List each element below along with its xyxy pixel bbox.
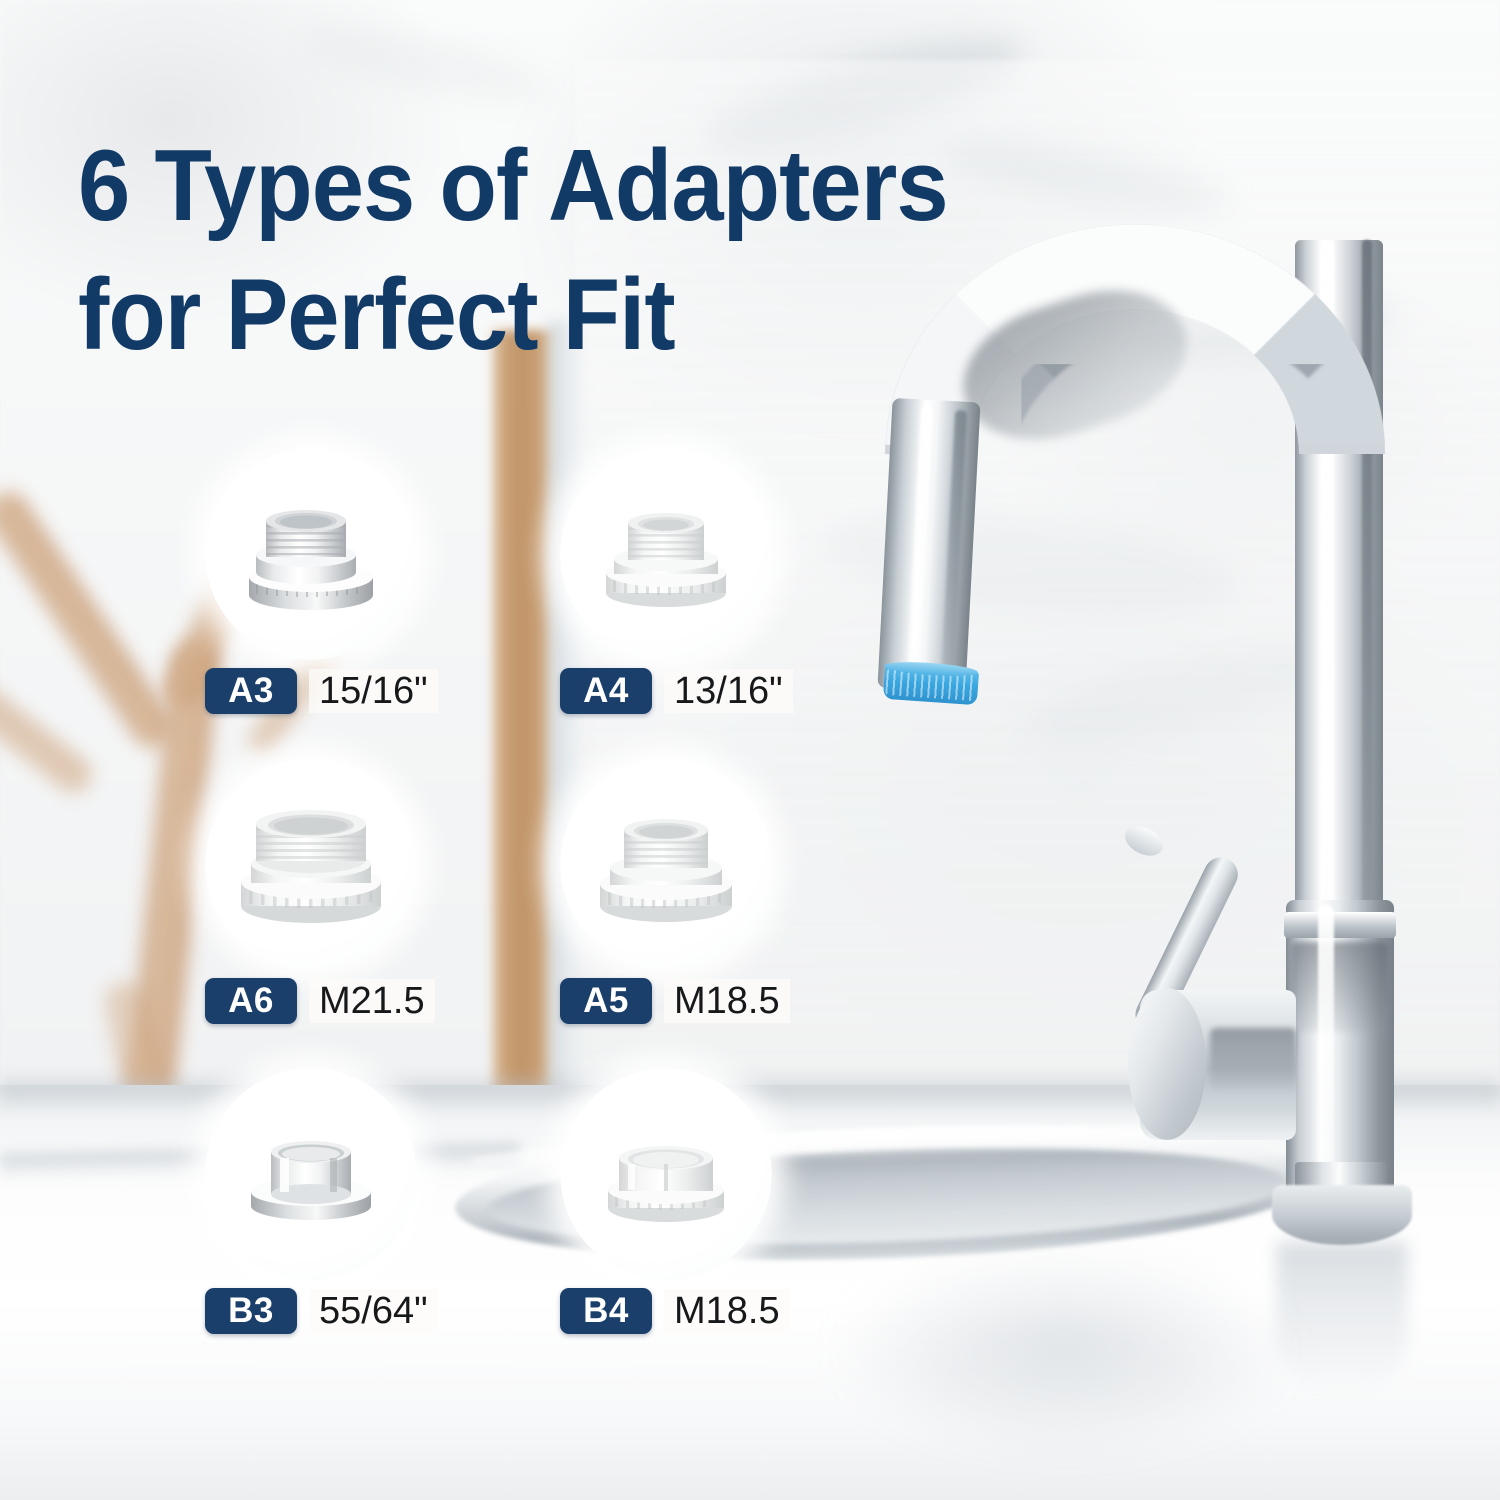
adapter-disc	[560, 1068, 772, 1280]
adapter-image-a4	[581, 489, 751, 619]
adapter-size-label: 13/16"	[664, 669, 793, 713]
adapter-code-badge: A5	[560, 978, 652, 1024]
adapter-label-row: B3 55/64"	[205, 1286, 565, 1336]
adapter-card-b3[interactable]: B3 55/64"	[205, 1068, 565, 1336]
adapter-code-badge: A6	[205, 978, 297, 1024]
adapter-code-badge: A4	[560, 668, 652, 714]
adapter-code-badge: B3	[205, 1288, 297, 1334]
adapter-code-badge: A3	[205, 668, 297, 714]
adapter-size-label: M18.5	[664, 1289, 790, 1333]
adapter-image-a5	[580, 796, 752, 932]
adapter-card-a3[interactable]: A3 15/16"	[205, 448, 565, 716]
adapter-size-label: 15/16"	[309, 669, 438, 713]
adapter-image-a3	[226, 489, 396, 619]
adapter-image-b4	[581, 1114, 751, 1234]
adapter-image-a6	[223, 794, 399, 934]
product-infographic: 6 Types of Adapters for Perfect Fit	[0, 0, 1500, 1500]
adapter-disc	[205, 448, 417, 660]
adapter-size-label: 55/64"	[309, 1289, 438, 1333]
adapter-disc	[560, 758, 772, 970]
adapter-label-row: A3 15/16"	[205, 666, 565, 716]
adapter-disc	[205, 1068, 417, 1280]
adapter-image-b3	[226, 1114, 396, 1234]
adapter-disc	[560, 448, 772, 660]
adapter-card-a4[interactable]: A4 13/16"	[560, 448, 920, 716]
adapter-grid: A3 15/16"	[0, 0, 1500, 1500]
adapter-label-row: A4 13/16"	[560, 666, 920, 716]
adapter-disc	[205, 758, 417, 970]
adapter-label-row: B4 M18.5	[560, 1286, 920, 1336]
adapter-label-row: A5 M18.5	[560, 976, 920, 1026]
adapter-card-a6[interactable]: A6 M21.5	[205, 758, 565, 1026]
adapter-size-label: M18.5	[664, 979, 790, 1023]
adapter-code-badge: B4	[560, 1288, 652, 1334]
adapter-label-row: A6 M21.5	[205, 976, 565, 1026]
adapter-size-label: M21.5	[309, 979, 435, 1023]
adapter-card-a5[interactable]: A5 M18.5	[560, 758, 920, 1026]
adapter-card-b4[interactable]: B4 M18.5	[560, 1068, 920, 1336]
